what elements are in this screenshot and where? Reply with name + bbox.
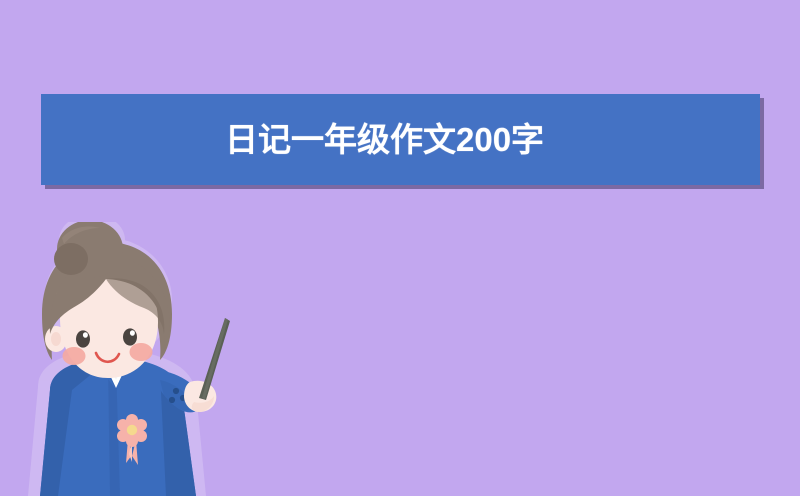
teacher-illustration bbox=[20, 222, 250, 496]
pointer-stick bbox=[199, 318, 230, 400]
page-title: 日记一年级作文200字 bbox=[225, 123, 544, 156]
right-eye bbox=[123, 328, 137, 345]
right-blush bbox=[130, 343, 153, 361]
left-eye bbox=[76, 330, 90, 347]
slide-canvas: 日记一年级作文200字 bbox=[0, 0, 800, 496]
title-banner: 日记一年级作文200字 bbox=[41, 94, 760, 185]
left-blush bbox=[63, 347, 86, 365]
